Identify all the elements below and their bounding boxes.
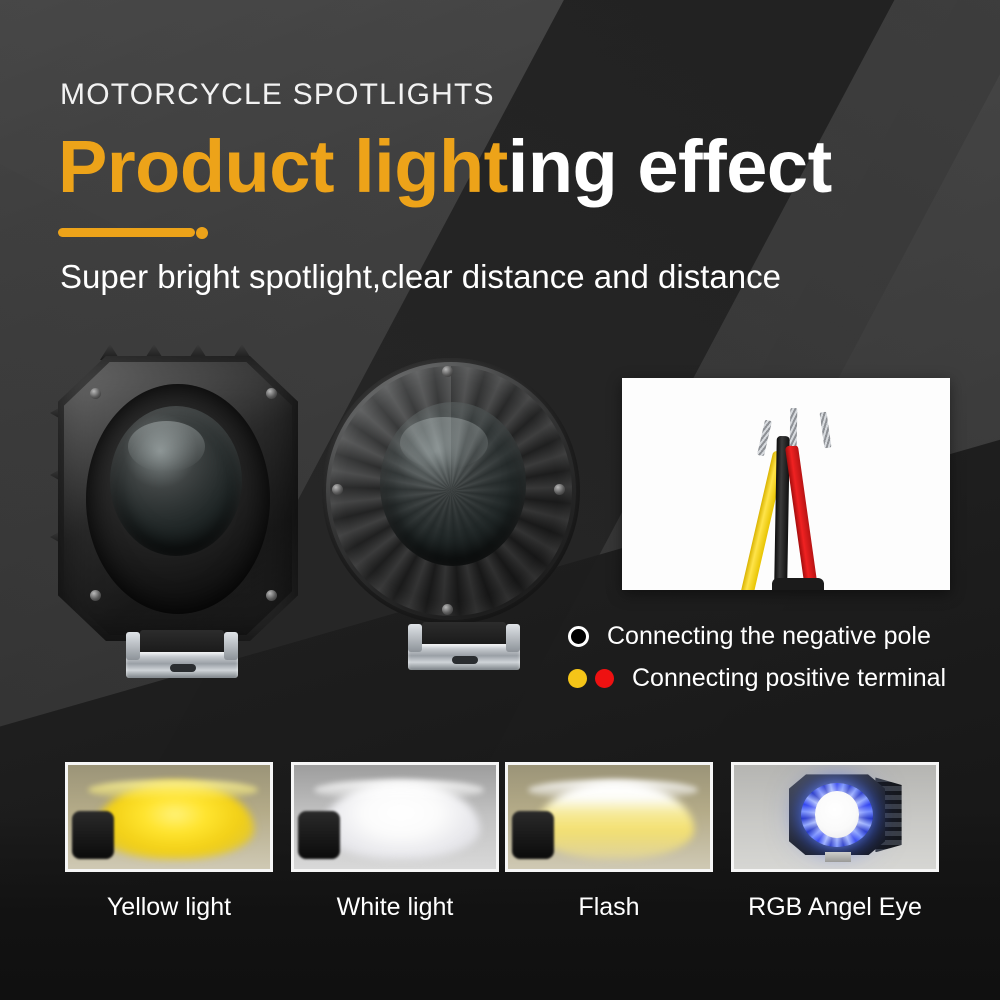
lamp-stand xyxy=(825,852,851,861)
screw-icon xyxy=(442,366,453,377)
red-wire-marker-icon xyxy=(595,669,614,688)
screw-icon xyxy=(90,388,101,399)
thumbnail-yellow-light xyxy=(65,762,273,872)
caption-white-light: White light xyxy=(291,893,499,922)
beam-hotspot xyxy=(314,780,484,801)
headline-accent-part: Product light xyxy=(58,125,508,208)
wire-boot xyxy=(772,578,824,590)
legend-label-negative: Connecting the negative pole xyxy=(607,622,931,651)
beam-hotspot xyxy=(528,780,698,801)
beam-hotspot xyxy=(88,780,258,801)
projector-lens xyxy=(110,406,242,556)
lamp-silhouette xyxy=(512,811,554,859)
bracket-arm-right xyxy=(224,632,238,660)
mode-caption-row: Yellow light White light Flash RGB Angel… xyxy=(65,893,939,927)
screw-icon xyxy=(332,484,343,495)
bracket-slot xyxy=(170,664,196,672)
bracket-arm-right xyxy=(506,624,520,652)
wire-tip-yellow xyxy=(757,420,772,457)
round-spotlight-photo xyxy=(316,358,586,680)
subheading-text: Super bright spotlight,clear distance an… xyxy=(60,258,781,296)
screw-icon xyxy=(442,604,453,615)
black-wire-marker-icon xyxy=(568,626,589,647)
product-banner: MOTORCYCLE SPOTLIGHTS Product lighting e… xyxy=(0,0,1000,1000)
caption-rgb-angel-eye: RGB Angel Eye xyxy=(731,893,939,922)
wire-red xyxy=(785,445,819,590)
screw-icon xyxy=(554,484,565,495)
projector-lens xyxy=(380,402,526,566)
mode-thumbnail-strip xyxy=(65,762,939,872)
mounting-bracket xyxy=(126,630,238,678)
yellow-wire-marker-icon xyxy=(568,669,587,688)
wiring-legend: Connecting the negative pole Connecting … xyxy=(568,618,946,702)
headline-rest-part: ing effect xyxy=(508,125,832,208)
bracket-slot xyxy=(452,656,478,664)
legend-row-negative: Connecting the negative pole xyxy=(568,618,946,654)
lamp-silhouette xyxy=(298,811,340,859)
bracket-arm-left xyxy=(408,624,422,652)
page-title: Product lighting effect xyxy=(58,130,832,204)
thumbnail-flash xyxy=(505,762,713,872)
accent-rule xyxy=(58,228,195,237)
wire-tip-red xyxy=(820,412,832,449)
caption-flash: Flash xyxy=(505,893,713,922)
wiring-photo xyxy=(622,378,950,590)
wire-tip-black xyxy=(790,408,798,446)
eyebrow-text: MOTORCYCLE SPOTLIGHTS xyxy=(60,78,495,112)
thumbnail-white-light xyxy=(291,762,499,872)
projector-lens xyxy=(815,791,859,838)
screw-icon xyxy=(266,590,277,601)
caption-yellow-light: Yellow light xyxy=(65,893,273,922)
lamp-silhouette xyxy=(72,811,114,859)
legend-label-positive: Connecting positive terminal xyxy=(632,664,946,693)
accent-rule-dot xyxy=(196,227,208,239)
screw-icon xyxy=(90,590,101,601)
screw-icon xyxy=(266,388,277,399)
bracket-arm-left xyxy=(126,632,140,660)
thumbnail-rgb-angel-eye xyxy=(731,762,939,872)
mounting-bracket xyxy=(408,622,520,670)
square-spotlight-photo xyxy=(48,338,310,678)
legend-row-positive: Connecting positive terminal xyxy=(568,660,946,696)
